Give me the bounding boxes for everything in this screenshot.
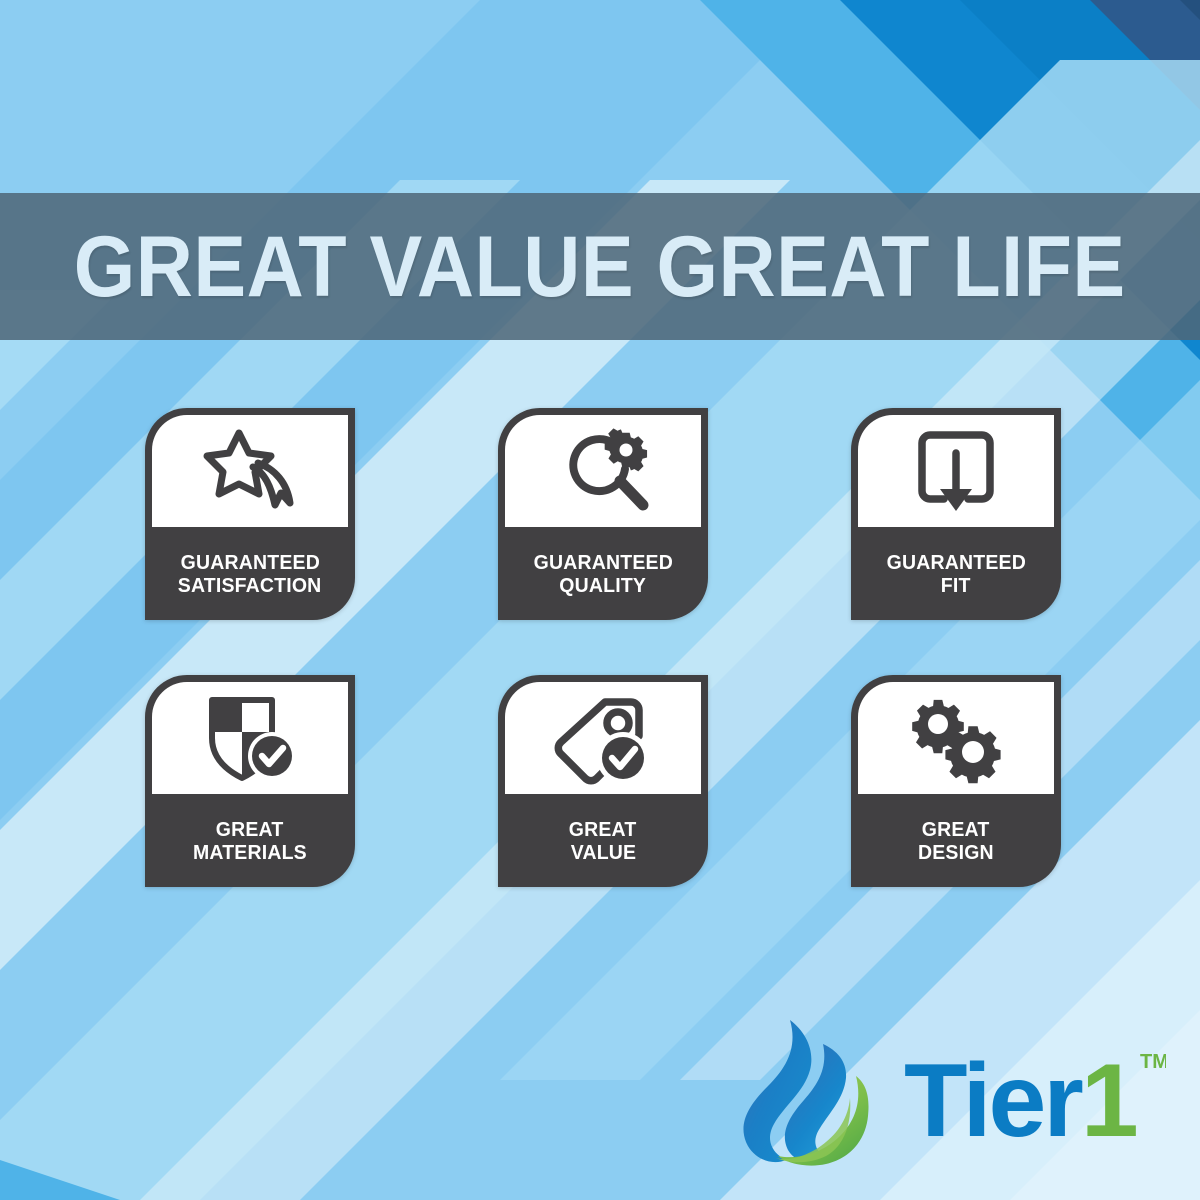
badge-caption-line1: GUARANTEED: [180, 551, 319, 574]
brand-logo[interactable]: Tier1 TM: [726, 1014, 1166, 1172]
shield-check-icon: [198, 690, 302, 786]
badge-caption-line2: MATERIALS: [193, 841, 307, 864]
badge-icon-panel: [505, 682, 701, 794]
badge-icon-panel: [505, 415, 701, 527]
badge-caption: GREAT DESIGN: [851, 800, 1061, 887]
price-tag-check-icon: [547, 690, 659, 786]
badge-guaranteed-satisfaction[interactable]: GUARANTEED SATISFACTION: [145, 408, 355, 620]
tier1-logo: Tier1 TM: [726, 1014, 1166, 1172]
flame-leaf-icon: [743, 1020, 868, 1166]
shooting-star-icon: [195, 423, 305, 519]
badge-icon-panel: [858, 682, 1054, 794]
badge-caption-line1: GUARANTEED: [533, 551, 672, 574]
headline-banner: GREAT VALUE GREAT LIFE: [0, 193, 1200, 340]
badge-caption-line1: GUARANTEED: [886, 551, 1025, 574]
badge-icon-panel: [152, 682, 348, 794]
badge-caption-line1: GREAT: [569, 818, 637, 841]
badge-caption: GUARANTEED SATISFACTION: [145, 533, 355, 620]
badge-icon-panel: [858, 415, 1054, 527]
badge-guaranteed-quality[interactable]: GUARANTEED QUALITY: [498, 408, 708, 620]
badge-caption-line2: DESIGN: [918, 841, 994, 864]
badge-caption-line1: GREAT: [216, 818, 284, 841]
feature-badge-grid: GUARANTEED SATISFACTION: [145, 408, 1060, 887]
badge-caption-line2: QUALITY: [560, 574, 647, 597]
badge-caption-line2: FIT: [941, 574, 971, 597]
badge-caption: GUARANTEED QUALITY: [498, 533, 708, 620]
badge-caption-line1: GREAT: [922, 818, 990, 841]
badge-great-design[interactable]: GREAT DESIGN: [851, 675, 1061, 887]
badge-great-materials[interactable]: GREAT MATERIALS: [145, 675, 355, 887]
magnifier-gear-icon: [547, 423, 659, 519]
badge-caption: GREAT VALUE: [498, 800, 708, 887]
page-title: GREAT VALUE GREAT LIFE: [74, 224, 1126, 310]
badge-guaranteed-fit[interactable]: GUARANTEED FIT: [851, 408, 1061, 620]
promo-graphic: GREAT VALUE GREAT LIFE GUARANTEED SATISF…: [0, 0, 1200, 1200]
logo-wordmark: Tier1: [904, 1043, 1136, 1159]
gears-icon: [902, 690, 1010, 786]
badge-icon-panel: [152, 415, 348, 527]
badge-great-value[interactable]: GREAT VALUE: [498, 675, 708, 887]
badge-caption: GREAT MATERIALS: [145, 800, 355, 887]
logo-trademark: TM: [1140, 1051, 1166, 1073]
badge-caption: GUARANTEED FIT: [851, 533, 1061, 620]
badge-caption-line2: VALUE: [570, 841, 636, 864]
badge-caption-line2: SATISFACTION: [178, 574, 322, 597]
insert-arrow-box-icon: [910, 423, 1002, 519]
